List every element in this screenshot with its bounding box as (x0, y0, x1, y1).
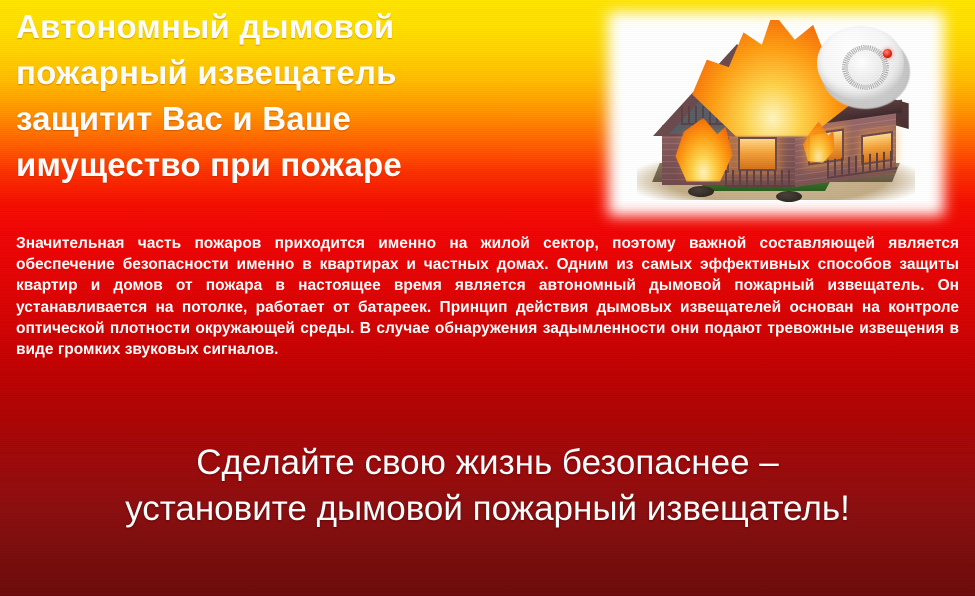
body-paragraph: Значительная часть пожаров приходится им… (16, 233, 959, 360)
window-glow (738, 137, 777, 171)
stone-icon (688, 186, 714, 197)
body-text-emphasis: автономный дымовой пожарный извещатель (539, 277, 920, 294)
balcony-railing (725, 170, 795, 187)
illustration-canvas (618, 20, 934, 208)
fire-safety-poster: Автономный дымовой пожарный извещатель з… (0, 0, 975, 596)
burning-house-illustration (602, 6, 950, 222)
led-indicator-icon (883, 49, 892, 58)
call-to-action-slogan: Сделайте свою жизнь безопаснее – установ… (0, 440, 975, 532)
stone-icon (776, 191, 802, 202)
detector-center-hub (848, 51, 882, 84)
page-title: Автономный дымовой пожарный извещатель з… (16, 4, 596, 188)
smoke-detector-icon (817, 26, 912, 112)
